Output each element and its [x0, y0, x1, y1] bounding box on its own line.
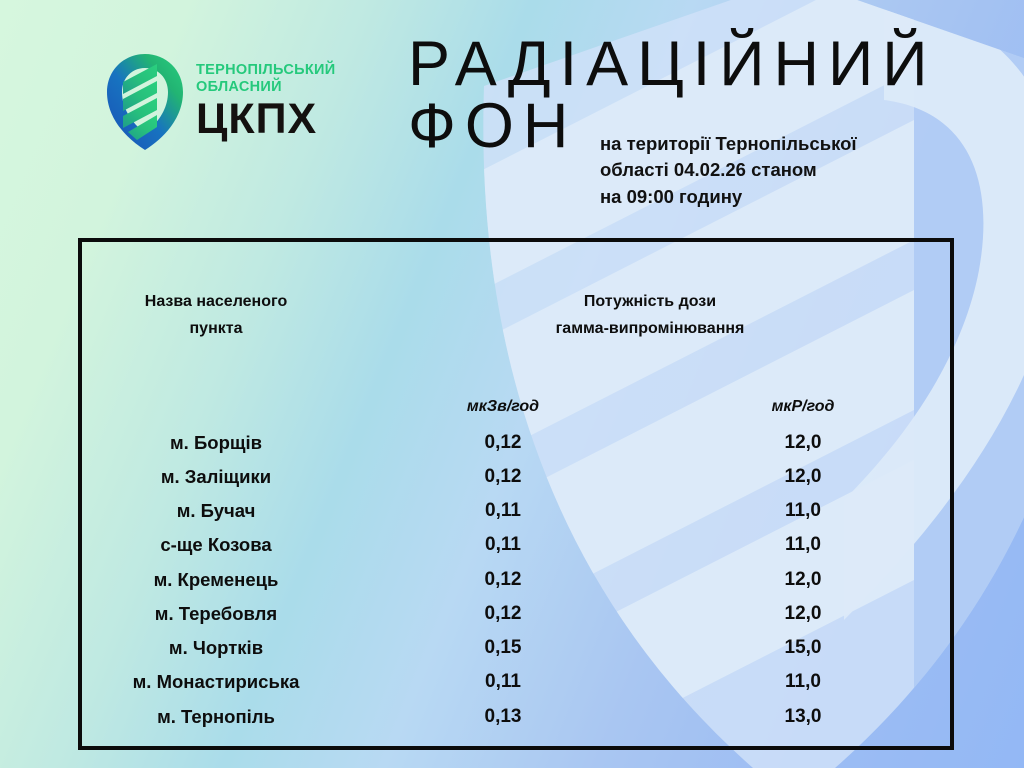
cell-upr: 12,0	[656, 460, 950, 494]
logo-abbreviation: ЦКПХ	[196, 98, 335, 141]
header-cell-dose-rate: Потужність дози гамма-випромінювання	[350, 242, 950, 389]
cell-locality: м. Тернопіль	[82, 700, 350, 734]
table-row: м. Тернопіль 0,13 13,0	[82, 700, 950, 734]
cell-upr: 15,0	[656, 631, 950, 665]
organization-logo: ТЕРНОПІЛЬСЬКИЙ ОБЛАСНИЙ ЦКПХ	[104, 52, 335, 152]
header-locality-line2: пункта	[82, 316, 350, 342]
cell-upr: 11,0	[656, 665, 950, 699]
header-dose-line1: Потужність дози	[350, 289, 950, 315]
header-dose-line2: гамма-випромінювання	[350, 316, 950, 342]
header-cell-locality: Назва населеного пункта	[82, 242, 350, 389]
radiation-table-container: Назва населеного пункта Потужність дози …	[78, 238, 954, 750]
logo-org-line2: ОБЛАСНИЙ	[196, 80, 335, 95]
spacer-cell-name	[82, 734, 350, 746]
table-row: м. Теребовля 0,12 12,0	[82, 597, 950, 631]
cell-upr: 13,0	[656, 700, 950, 734]
subtitle-line2: області 04.02.26 станом	[600, 157, 940, 183]
cell-locality: м. Чортків	[82, 631, 350, 665]
page-title-line1: РАДІАЦІЙНИЙ	[408, 29, 937, 99]
cell-usv: 0,15	[350, 631, 656, 665]
cell-usv: 0,11	[350, 494, 656, 528]
units-cell-usv: мкЗв/год	[350, 389, 656, 425]
spacer-cell-upr	[656, 734, 950, 746]
logo-org-line1: ТЕРНОПІЛЬСЬКИЙ	[196, 63, 335, 78]
cell-locality: м. Монастириська	[82, 665, 350, 699]
units-cell-upr: мкР/год	[656, 389, 950, 425]
cell-usv: 0,12	[350, 460, 656, 494]
page-header: ТЕРНОПІЛЬСЬКИЙ ОБЛАСНИЙ ЦКПХ РАДІАЦІЙНИЙ…	[0, 0, 1024, 235]
cell-usv: 0,11	[350, 528, 656, 562]
table-row: м. Борщів 0,12 12,0	[82, 425, 950, 459]
cell-upr: 11,0	[656, 528, 950, 562]
shield-logo-icon	[104, 52, 186, 152]
table-units-row: мкЗв/год мкР/год	[82, 389, 950, 425]
cell-locality: м. Заліщики	[82, 460, 350, 494]
cell-locality: м. Теребовля	[82, 597, 350, 631]
table-row: м. Бучач 0,11 11,0	[82, 494, 950, 528]
units-cell-blank	[82, 389, 350, 425]
cell-usv: 0,12	[350, 563, 656, 597]
cell-upr: 12,0	[656, 563, 950, 597]
cell-locality: с-ще Козова	[82, 528, 350, 562]
cell-locality: м. Бучач	[82, 494, 350, 528]
table-header-row: Назва населеного пункта Потужність дози …	[82, 242, 950, 389]
logo-wordmark: ТЕРНОПІЛЬСЬКИЙ ОБЛАСНИЙ ЦКПХ	[196, 63, 335, 141]
spacer-cell-usv	[350, 734, 656, 746]
cell-upr: 12,0	[656, 425, 950, 459]
subtitle-line3: на 09:00 годину	[600, 184, 940, 210]
cell-locality: м. Борщів	[82, 425, 350, 459]
subtitle-line1: на території Тернопільської	[600, 131, 940, 157]
table-row: м. Чортків 0,15 15,0	[82, 631, 950, 665]
table-row: м. Кременець 0,12 12,0	[82, 563, 950, 597]
table-row: м. Заліщики 0,12 12,0	[82, 460, 950, 494]
cell-usv: 0,12	[350, 597, 656, 631]
table-row: с-ще Козова 0,11 11,0	[82, 528, 950, 562]
cell-usv: 0,11	[350, 665, 656, 699]
header-locality-line1: Назва населеного	[82, 289, 350, 315]
cell-locality: м. Кременець	[82, 563, 350, 597]
radiation-table: Назва населеного пункта Потужність дози …	[82, 242, 950, 746]
table-bottom-spacer	[82, 734, 950, 746]
cell-upr: 12,0	[656, 597, 950, 631]
cell-upr: 11,0	[656, 494, 950, 528]
cell-usv: 0,13	[350, 700, 656, 734]
page-subtitle: на території Тернопільської області 04.0…	[600, 131, 940, 210]
table-row: м. Монастириська 0,11 11,0	[82, 665, 950, 699]
cell-usv: 0,12	[350, 425, 656, 459]
